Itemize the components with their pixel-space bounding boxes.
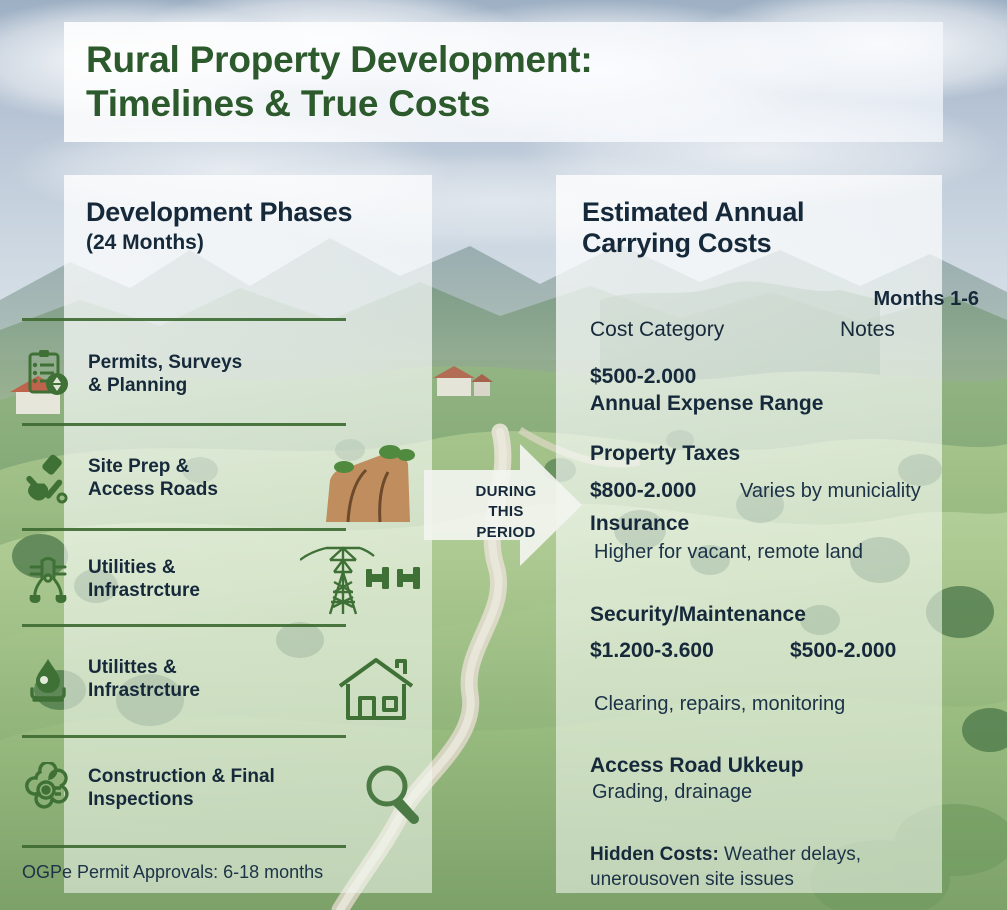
table-row-insurance-note: Higher for vacant, remote land [594, 541, 944, 564]
row-note: $500-2.000 [790, 639, 896, 663]
clipboard-checklist-icon [22, 348, 74, 400]
during-this-period-arrow: DURING THIS PERIOD [424, 440, 584, 570]
table-row-property-taxes: Property Taxes [590, 442, 940, 466]
phase-item-site-prep[interactable]: Site Prep & Access Roads [22, 452, 352, 504]
dirt-road-hill-illustration [318, 440, 420, 535]
row-note: Varies by municiality [740, 480, 921, 503]
arrow-label-line1: DURING [458, 482, 554, 502]
divider-4 [22, 735, 346, 738]
hidden-costs-line2: unerousoven site issues [590, 868, 936, 893]
row-note: Higher for vacant, remote land [594, 541, 944, 564]
row-category: Security/Maintenance [590, 603, 940, 627]
phase-label-permits: Permits, Surveys & Planning [88, 351, 242, 397]
pipe-connector-icon [366, 565, 426, 596]
column-header-cost-category: Cost Category [590, 318, 840, 342]
page-title-line2: Timelines & True Costs [86, 82, 943, 126]
gear-flower-icon [22, 762, 74, 814]
divider-1 [22, 423, 346, 426]
divider-0 [22, 318, 346, 321]
right-panel-heading-line1: Estimated Annual [582, 197, 804, 228]
row-amount: $800-2.000 [590, 479, 740, 503]
table-row-security-amounts: $1.200-3.600 $500-2.000 [590, 639, 940, 663]
divider-5 [22, 845, 346, 848]
left-panel-subheading: (24 Months) [86, 230, 352, 255]
page-title-line1: Rural Property Development: [86, 38, 943, 82]
phase-label-utilities-2: Utilittes & Infrastrcture [88, 656, 200, 702]
title-banner: Rural Property Development: Timelines & … [64, 22, 943, 142]
row-note: Clearing, repairs, monitoring [594, 693, 944, 716]
table-row-access-road-note: Grading, drainage [592, 781, 942, 804]
hidden-costs-block: Hidden Costs: Weather delays, unerousove… [590, 843, 936, 892]
table-row-annual-expense: $500-2.000 Annual Expense Range [590, 365, 940, 416]
column-header-notes: Notes [840, 318, 895, 342]
phase-item-construction[interactable]: Construction & Final Inspections [22, 762, 352, 814]
table-row-insurance: Insurance [590, 512, 940, 536]
left-panel-header: Development Phases (24 Months) [86, 197, 352, 255]
row-category: Property Taxes [590, 442, 940, 466]
table-row-security-maintenance: Security/Maintenance [590, 603, 940, 627]
phase-label-utilities: Utilities & Infrastrcture [88, 556, 200, 602]
months-range-label: Months 1-6 [873, 288, 979, 311]
hidden-costs-label: Hidden Costs: [590, 844, 719, 865]
shovel-pick-icon [22, 452, 74, 504]
table-row-taxes-amount: $800-2.000 Varies by municiality [590, 479, 940, 503]
right-panel-heading-line2: Carrying Costs [582, 228, 804, 259]
row-amount: $1.200-3.600 [590, 639, 790, 663]
row-amount: $500-2.000 [590, 365, 940, 389]
house-outline-icon [336, 656, 416, 729]
water-droplet-icon [22, 653, 74, 705]
arrow-label: DURING THIS PERIOD [458, 482, 554, 543]
divider-2 [22, 528, 346, 531]
phase-label-site-prep: Site Prep & Access Roads [88, 455, 218, 501]
left-panel-heading: Development Phases [86, 197, 352, 228]
row-note: Grading, drainage [592, 781, 942, 804]
row-category: Insurance [590, 512, 940, 536]
right-panel-header: Estimated Annual Carrying Costs [582, 197, 804, 259]
table-row-access-road: Access Road Ukkeup [590, 754, 940, 778]
phase-item-utilities-2[interactable]: Utilittes & Infrastrcture [22, 653, 352, 705]
divider-3 [22, 624, 346, 627]
arrow-label-line2: THIS PERIOD [458, 502, 554, 543]
cost-table-column-headers: Cost Category Notes [590, 318, 935, 342]
ogpe-permit-footnote: OGPe Permit Approvals: 6-18 months [22, 862, 323, 883]
row-category: Annual Expense Range [590, 392, 940, 416]
phase-item-permits[interactable]: Permits, Surveys & Planning [22, 348, 352, 400]
magnifying-glass-icon [362, 762, 424, 833]
hidden-costs-line1: Weather delays, [719, 844, 861, 865]
row-category: Access Road Ukkeup [590, 754, 940, 778]
table-row-security-note: Clearing, repairs, monitoring [594, 693, 944, 716]
utility-pole-icon [22, 553, 74, 605]
phase-label-construction: Construction & Final Inspections [88, 765, 275, 811]
